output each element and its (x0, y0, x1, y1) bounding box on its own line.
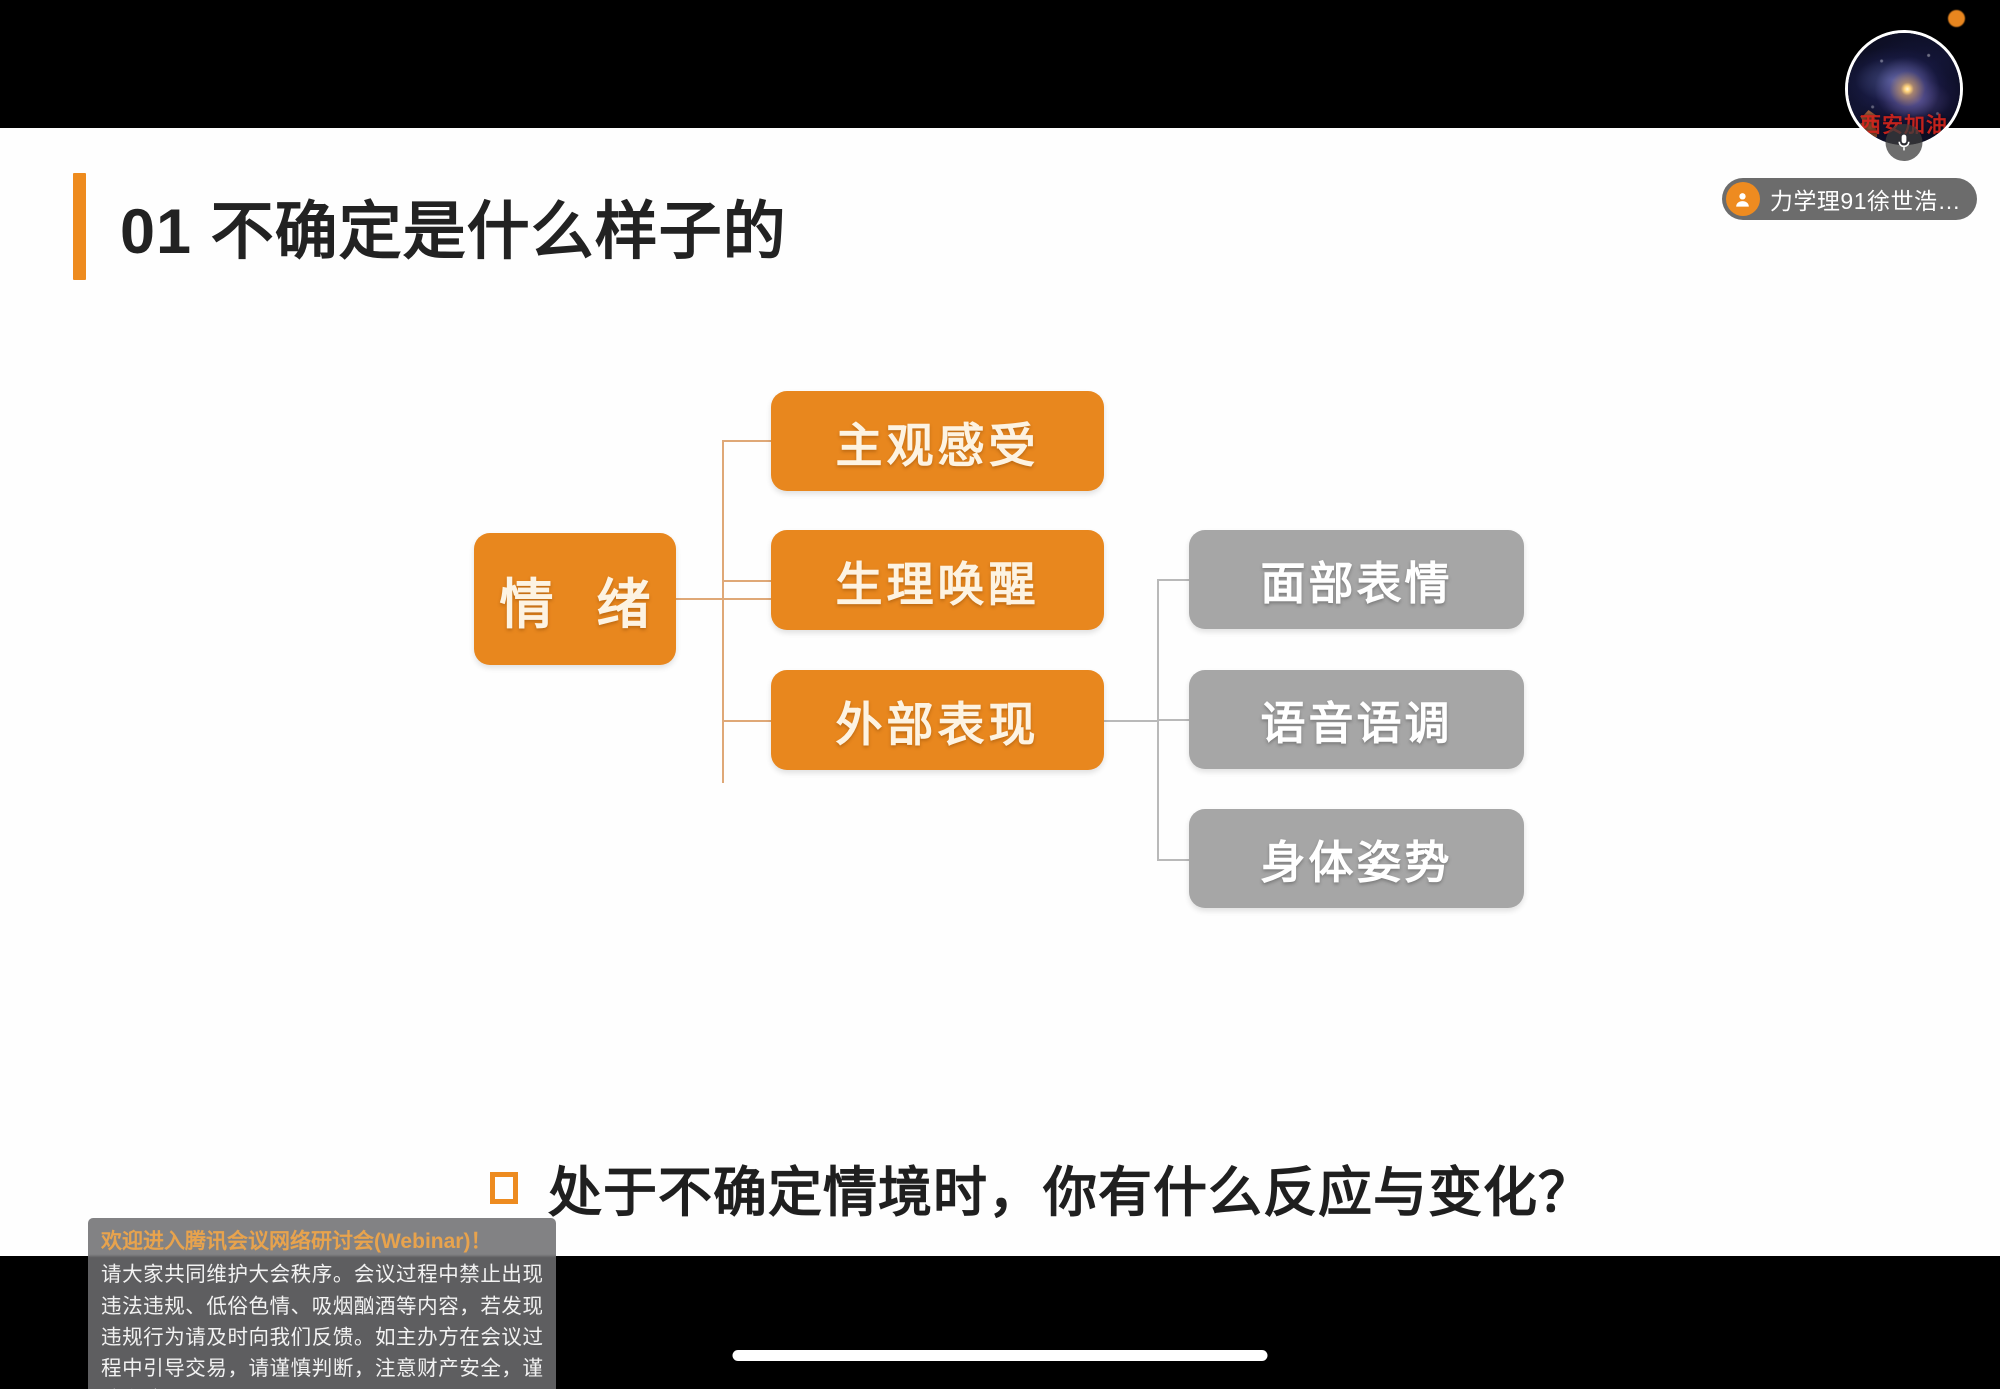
mindmap-node-body-posture: 身体姿势 (1189, 809, 1524, 908)
recording-status-dot (1948, 10, 1965, 27)
connector-to-node-2 (722, 580, 771, 582)
connector-to-node-1 (722, 440, 771, 442)
page-title: 01 不确定是什么样子的 (120, 181, 787, 272)
webinar-notice-panel: 欢迎进入腾讯会议网络研讨会(Webinar)！ 请大家共同维护大会秩序。会议过程… (88, 1218, 556, 1389)
notice-body: 请大家共同维护大会秩序。会议过程中禁止出现违法违规、低俗色情、吸烟酗酒等内容，若… (101, 1259, 543, 1389)
mindmap-node-voice-tone: 语音语调 (1189, 670, 1524, 769)
square-bullet-icon (490, 1172, 518, 1204)
question-text: 处于不确定情境时，你有什么反应与变化？ (548, 1148, 1593, 1227)
emotion-mind-map: 情 绪 主观感受 生理唤醒 外部表现 面部表情 语音语调 身体姿势 (0, 378, 2000, 998)
connector-to-node-5 (1157, 719, 1189, 721)
connector-to-node-4 (1157, 579, 1189, 581)
person-icon (1726, 182, 1760, 216)
microphone-icon[interactable] (1886, 124, 1923, 161)
participant-name: 力学理91徐世浩… (1770, 182, 1961, 216)
notice-title: 欢迎进入腾讯会议网络研讨会(Webinar)！ (101, 1228, 543, 1256)
connector-to-node-6 (1157, 859, 1189, 861)
mindmap-node-facial-expression: 面部表情 (1189, 530, 1524, 629)
self-video-tile[interactable]: 西安加油 (1845, 30, 1963, 148)
meeting-screen: 01 不确定是什么样子的 情 绪 主观感受 生理唤醒 外部表现 面部表情 语 (0, 0, 2000, 1389)
home-indicator[interactable] (733, 1350, 1268, 1361)
slide-heading: 01 不确定是什么样子的 (73, 173, 787, 280)
connector-external-stem (1104, 720, 1157, 722)
participant-name-badge[interactable]: 力学理91徐世浩… (1722, 178, 1977, 220)
heading-accent-bar (73, 173, 86, 280)
shared-slide: 01 不确定是什么样子的 情 绪 主观感受 生理唤醒 外部表现 面部表情 语 (0, 128, 2000, 1256)
mindmap-node-root: 情 绪 (474, 533, 676, 665)
connector-to-node-3 (722, 720, 771, 722)
slide-question: 处于不确定情境时，你有什么反应与变化？ (490, 1148, 1593, 1227)
mindmap-node-external-expression: 外部表现 (771, 670, 1104, 770)
mindmap-node-physiological-arousal: 生理唤醒 (771, 530, 1104, 630)
connector-level2-trunk (722, 440, 724, 783)
mindmap-node-subjective-feeling: 主观感受 (771, 391, 1104, 491)
